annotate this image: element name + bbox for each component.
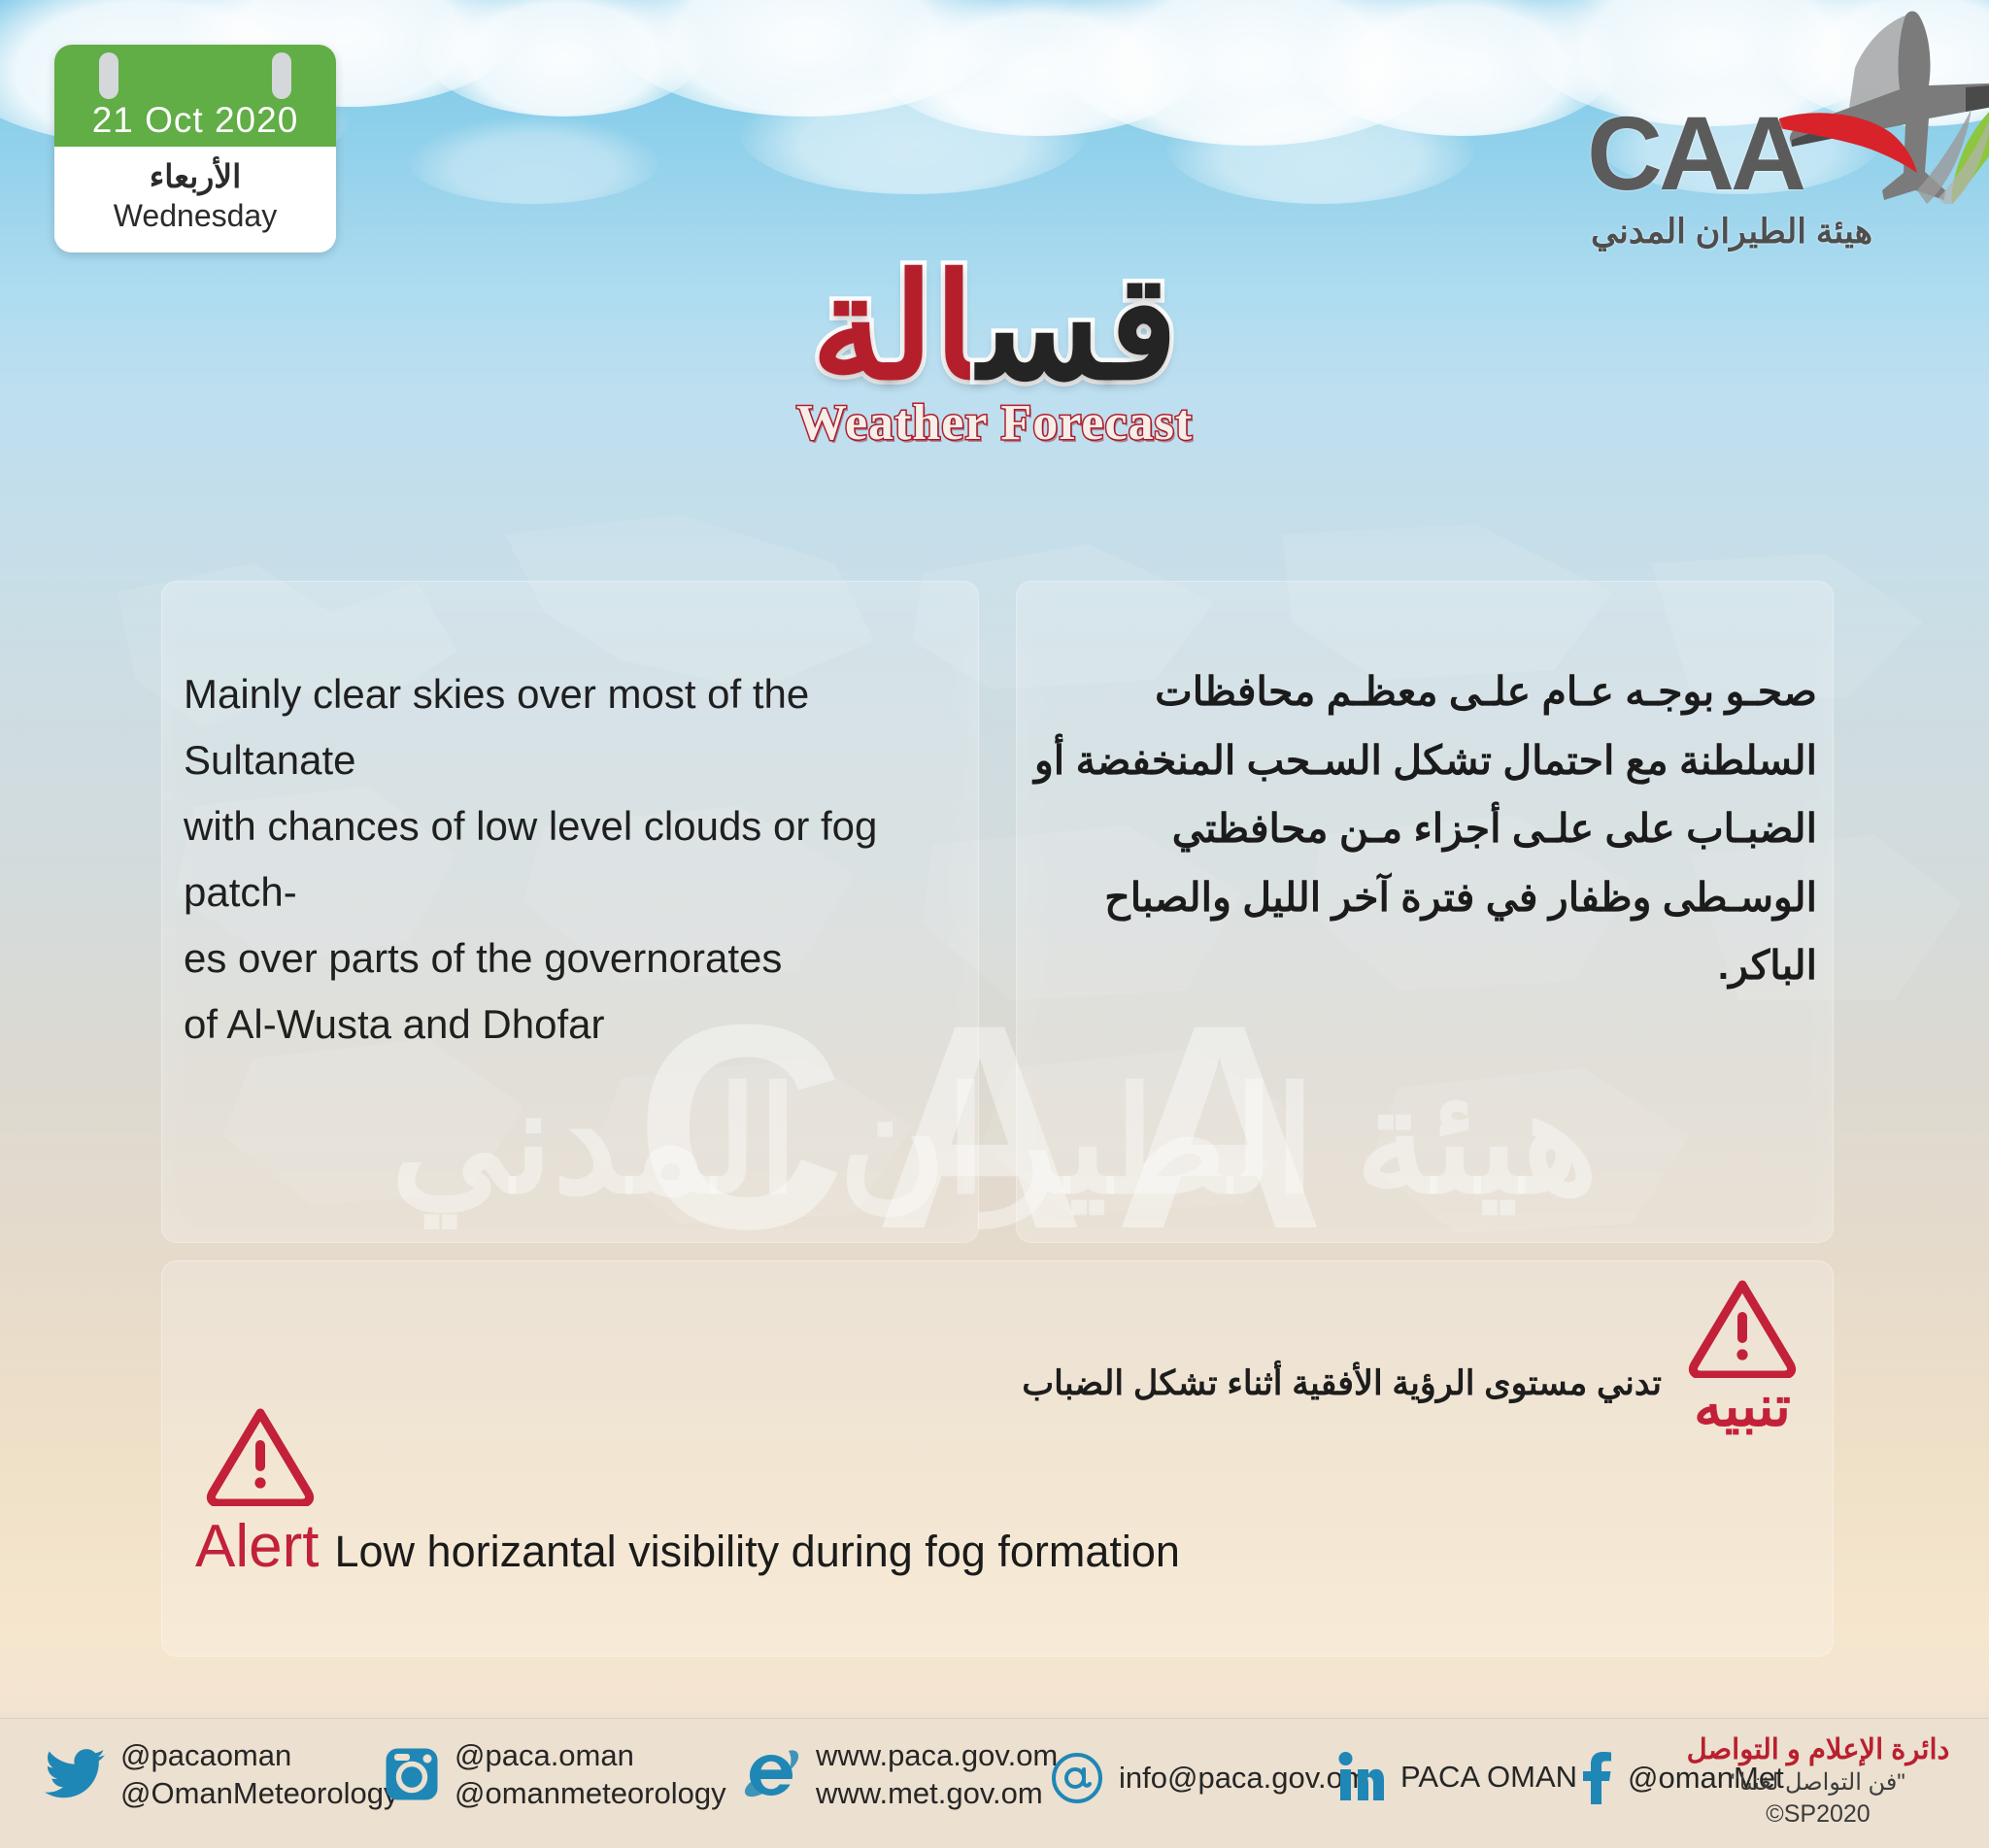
footer-lines-website: www.paca.gov.om www.met.gov.om [816,1736,1058,1812]
warning-triangle-icon [1685,1277,1800,1378]
page-title-arabic-red: الة [811,246,978,409]
footer-website-line-0: www.paca.gov.om [816,1736,1058,1774]
alert-word-arabic: تنبيه [1694,1380,1791,1433]
footer-bar: @pacaoman @OmanMeteorology @paca.oman @o… [0,1718,1989,1848]
footer-item-twitter[interactable]: @pacaoman @OmanMeteorology [45,1736,398,1812]
footer-twitter-line-0: @pacaoman [120,1736,398,1774]
forecast-line-en-0: Mainly clear skies over most of the Sult… [184,661,961,793]
footer-item-instagram[interactable]: @paca.oman @omanmeteorology [385,1736,726,1812]
page-title-arabic-dark: قس [978,246,1178,409]
forecast-panel-english: Mainly clear skies over most of the Sult… [161,581,979,1243]
calendar-date: 21 Oct 2020 [54,100,336,141]
footer-linkedin-line-0: PACA OMAN [1400,1758,1577,1796]
alert-english-icon-wrap [203,1405,1444,1511]
footer-lines-twitter: @pacaoman @OmanMeteorology [120,1736,398,1812]
footer-department-credit: دائرة الإعلام و التواصل "فن التواصل لغتن… [1682,1732,1954,1830]
footer-lines-linkedin: PACA OMAN [1400,1758,1577,1796]
footer-department-line-1: دائرة الإعلام و التواصل [1682,1732,1954,1768]
forecast-line-en-2: es over parts of the governorates [184,925,961,991]
caa-logo: CAA هيئة الطيران المدني [1577,14,1966,256]
warning-triangle-icon [203,1405,318,1506]
footer-item-website[interactable]: www.paca.gov.om www.met.gov.om [742,1736,1058,1812]
page-title-block: قسالة Weather Forecast [0,254,1989,452]
calendar-header: 21 Oct 2020 [54,45,336,147]
calendar-ring-right [272,52,291,99]
internet-explorer-icon [742,1747,800,1801]
footer-lines-instagram: @paca.oman @omanmeteorology [455,1736,726,1812]
calendar-day-english: Wednesday [54,196,336,235]
footer-instagram-line-0: @paca.oman [455,1736,726,1774]
footer-instagram-line-1: @omanmeteorology [455,1774,726,1812]
email-at-icon [1051,1752,1103,1804]
footer-department-line-2: "فن التواصل لغتنا" [1682,1768,1954,1798]
instagram-icon [385,1747,439,1801]
forecast-line-en-1: with chances of low level clouds or fog … [184,793,961,925]
footer-email-line-0: info@paca.gov.om [1119,1759,1368,1797]
forecast-panel-arabic: صحـو بوجـه عـام علـى معظـم محافظات السلط… [1016,581,1834,1243]
page-title-arabic: قسالة [0,254,1989,400]
footer-website-line-1: www.met.gov.om [816,1774,1058,1812]
footer-twitter-line-1: @OmanMeteorology [120,1774,398,1812]
calendar-ring-left [99,52,118,99]
forecast-line-en-3: of Al-Wusta and Dhofar [184,991,961,1058]
alert-text-english: Low horizantal visibility during fog for… [334,1529,1179,1573]
facebook-icon [1581,1752,1612,1804]
alert-text-arabic: تدني مستوى الرؤية الأفقية أثناء تشكل الض… [1022,1364,1662,1403]
alert-panel: تنبيه تدني مستوى الرؤية الأفقية أثناء تش… [161,1260,1834,1657]
footer-department-copyright: ©SP2020 [1682,1798,1954,1830]
forecast-text-english: Mainly clear skies over most of the Sult… [184,661,961,1058]
calendar-body: الأربعاء Wednesday [54,147,336,252]
caa-wordmark: CAA [1587,101,1803,206]
footer-item-email[interactable]: info@paca.gov.om [1051,1752,1368,1804]
alert-english-line: Alert Low horizantal visibility during f… [195,1517,1444,1577]
footer-lines-email: info@paca.gov.om [1119,1759,1368,1797]
caa-arabic-name: هيئة الطيران المدني [1591,215,1872,249]
alert-word-english: Alert [195,1517,319,1577]
alert-arabic-icon-group: تنبيه [1679,1277,1805,1433]
forecast-text-arabic: صحـو بوجـه عـام علـى معظـم محافظات السلط… [1034,657,1817,1000]
twitter-icon [45,1749,105,1799]
calendar-badge: 21 Oct 2020 الأربعاء Wednesday [54,45,336,252]
calendar-day-arabic: الأربعاء [54,156,336,196]
weather-forecast-poster: CAA هيئة الطيران المدني 21 Oct 2020 الأر… [0,0,1989,1848]
alert-english-row: Alert Low horizantal visibility during f… [182,1405,1444,1577]
footer-item-linkedin[interactable]: PACA OMAN [1338,1752,1577,1802]
page-title-english: Weather Forecast [0,394,1989,452]
linkedin-icon [1338,1752,1385,1802]
